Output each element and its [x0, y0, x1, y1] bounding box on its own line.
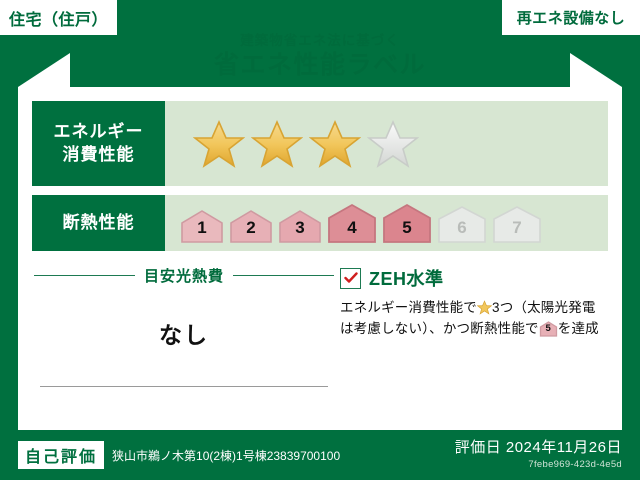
- label-footer: 自己評価 狭山市鵜ノ木第10(2棟)1号棟23839700100 評価日 202…: [0, 430, 640, 480]
- evaluation-date: 評価日 2024年11月26日: [455, 439, 622, 458]
- zeh-checkbox[interactable]: [340, 268, 361, 289]
- lower-section: 目安光熱費 なし ZEH水準 エネルギー消費性能で: [34, 265, 606, 387]
- star-icon-filled-3: [309, 119, 361, 169]
- self-evaluation-badge: 自己評価: [18, 441, 104, 469]
- check-icon: [344, 272, 358, 284]
- utility-cost-value: なし: [34, 316, 334, 350]
- renewable-equipment-tab: 再エネ設備なし: [502, 0, 640, 35]
- inline-star-icon: [477, 300, 492, 315]
- zeh-heading: ZEH水準: [340, 265, 606, 291]
- star-rating: [193, 119, 419, 169]
- building-type-tab: 住宅（住戸）: [0, 0, 117, 35]
- zeh-desc-part2: は考慮しない）、かつ断熱性能で: [340, 321, 539, 336]
- footer-left: 自己評価 狭山市鵜ノ木第10(2棟)1号棟23839700100: [0, 441, 455, 469]
- utility-cost-heading-text: 目安光熱費: [144, 265, 224, 286]
- energy-label-line1: エネルギー: [54, 122, 144, 141]
- insulation-level-1: 1: [179, 209, 225, 243]
- insulation-level-5: 5: [381, 203, 433, 243]
- insulation-level-4: 4: [326, 203, 378, 243]
- label-card: エネルギー 消費性能: [18, 87, 622, 430]
- rule-right: [233, 275, 334, 276]
- zeh-title: ZEH水準: [369, 265, 444, 291]
- zeh-description: エネルギー消費性能で 3つ（太陽光発電は考慮しない）、かつ断熱性能で 5 を達成: [340, 298, 606, 340]
- energy-label-line2: 消費性能: [63, 145, 135, 164]
- utility-cost-section: 目安光熱費 なし: [34, 265, 334, 387]
- insulation-level-4-number: 4: [326, 218, 378, 238]
- inline-house-badge: 5: [539, 321, 558, 337]
- evaluation-id: 7febe969-423d-4e5d: [455, 459, 622, 471]
- star-icon-filled-2: [251, 119, 303, 169]
- footer-right: 評価日 2024年11月26日 7febe969-423d-4e5d: [455, 439, 640, 472]
- gable-left: [18, 53, 70, 87]
- energy-rating-body: [165, 101, 608, 186]
- inline-house-badge-number: 5: [539, 322, 558, 337]
- insulation-level-7: 7: [491, 205, 543, 243]
- energy-performance-label: 住宅（住戸） 再エネ設備なし 建築物省エネ法に基づく 省エネ性能ラベル エネルギ…: [0, 0, 640, 480]
- insulation-level-2: 2: [228, 209, 274, 243]
- star-icon-filled-1: [193, 119, 245, 169]
- utility-cost-heading: 目安光熱費: [34, 265, 334, 286]
- rule-left: [34, 275, 135, 276]
- insulation-level-6: 6: [436, 205, 488, 243]
- insulation-level-3: 3: [277, 209, 323, 243]
- zeh-section: ZEH水準 エネルギー消費性能で 3つ（太陽光発電は考慮しない）、かつ断熱性能で…: [334, 265, 606, 387]
- insulation-level-1-number: 1: [179, 218, 225, 238]
- insulation-level-5-number: 5: [381, 218, 433, 238]
- utility-cost-underline: [40, 386, 328, 387]
- gable-right: [570, 53, 622, 87]
- energy-performance-row: エネルギー 消費性能: [32, 101, 608, 186]
- label-subtitle: 建築物省エネ法に基づく: [0, 34, 640, 49]
- energy-performance-label: エネルギー 消費性能: [32, 101, 165, 186]
- property-address: 狭山市鵜ノ木第10(2棟)1号棟23839700100: [112, 447, 340, 464]
- insulation-level-7-number: 7: [491, 218, 543, 238]
- insulation-level-6-number: 6: [436, 218, 488, 238]
- label-headline: 建築物省エネ法に基づく 省エネ性能ラベル: [0, 34, 640, 81]
- insulation-level-2-number: 2: [228, 218, 274, 238]
- insulation-performance-label: 断熱性能: [32, 195, 165, 251]
- insulation-rating-body: 1 2 3: [165, 195, 608, 251]
- zeh-desc-star-count: 3つ（太陽光発電: [492, 300, 596, 315]
- zeh-desc-part1: エネルギー消費性能で: [340, 300, 477, 315]
- star-icon-empty-4: [367, 119, 419, 169]
- page-title: 省エネ性能ラベル: [0, 50, 640, 81]
- insulation-level-scale: 1 2 3: [179, 203, 543, 243]
- insulation-level-3-number: 3: [277, 218, 323, 238]
- zeh-desc-part3: を達成: [558, 321, 599, 336]
- insulation-performance-row: 断熱性能 1 2: [32, 195, 608, 251]
